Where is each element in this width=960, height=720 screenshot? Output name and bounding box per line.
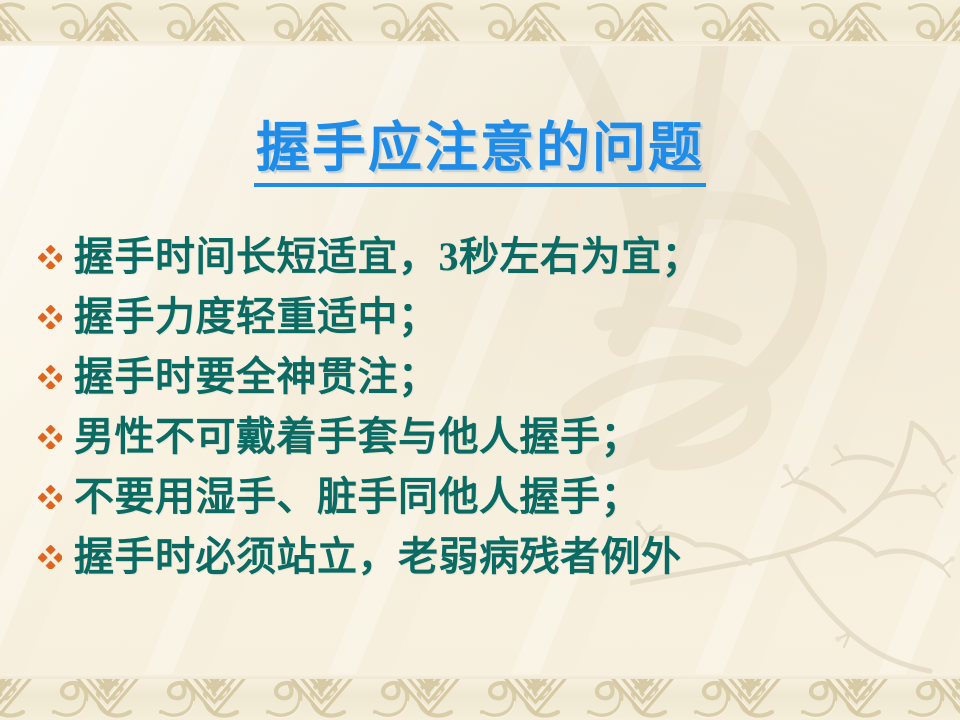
list-item: 男性不可戴着手套与他人握手；: [36, 408, 926, 468]
list-item: 握手时要全神贯注；: [36, 348, 926, 408]
list-item: 不要用湿手、脏手同他人握手；: [36, 468, 926, 528]
four-diamond-bullet-icon: [36, 528, 70, 586]
four-diamond-bullet-icon: [36, 348, 70, 406]
list-item-label: 男性不可戴着手套与他人握手；: [74, 408, 641, 466]
four-diamond-bullet-icon: [36, 408, 70, 466]
list-item: 握手时必须站立，老弱病残者例外: [36, 528, 926, 588]
list-item-label: 不要用湿手、脏手同他人握手；: [74, 468, 641, 526]
list-item-label: 握手时必须站立，老弱病残者例外: [74, 528, 682, 586]
four-diamond-bullet-icon: [36, 468, 70, 526]
four-diamond-bullet-icon: [36, 288, 70, 346]
list-item-label: 握手时要全神贯注；: [74, 348, 439, 406]
bullet-list: 握手时间长短适宜，3秒左右为宜； 握手力度轻重适中；: [36, 228, 926, 588]
slide-canvas: 握手应注意的问题 握手时间长短适宜，3秒左右为宜；: [0, 0, 960, 720]
list-item-label: 握手力度轻重适中；: [74, 288, 439, 346]
list-item: 握手力度轻重适中；: [36, 288, 926, 348]
list-item: 握手时间长短适宜，3秒左右为宜；: [36, 228, 926, 288]
list-item-label: 握手时间长短适宜，3秒左右为宜；: [74, 228, 702, 286]
four-diamond-bullet-icon: [36, 228, 70, 286]
